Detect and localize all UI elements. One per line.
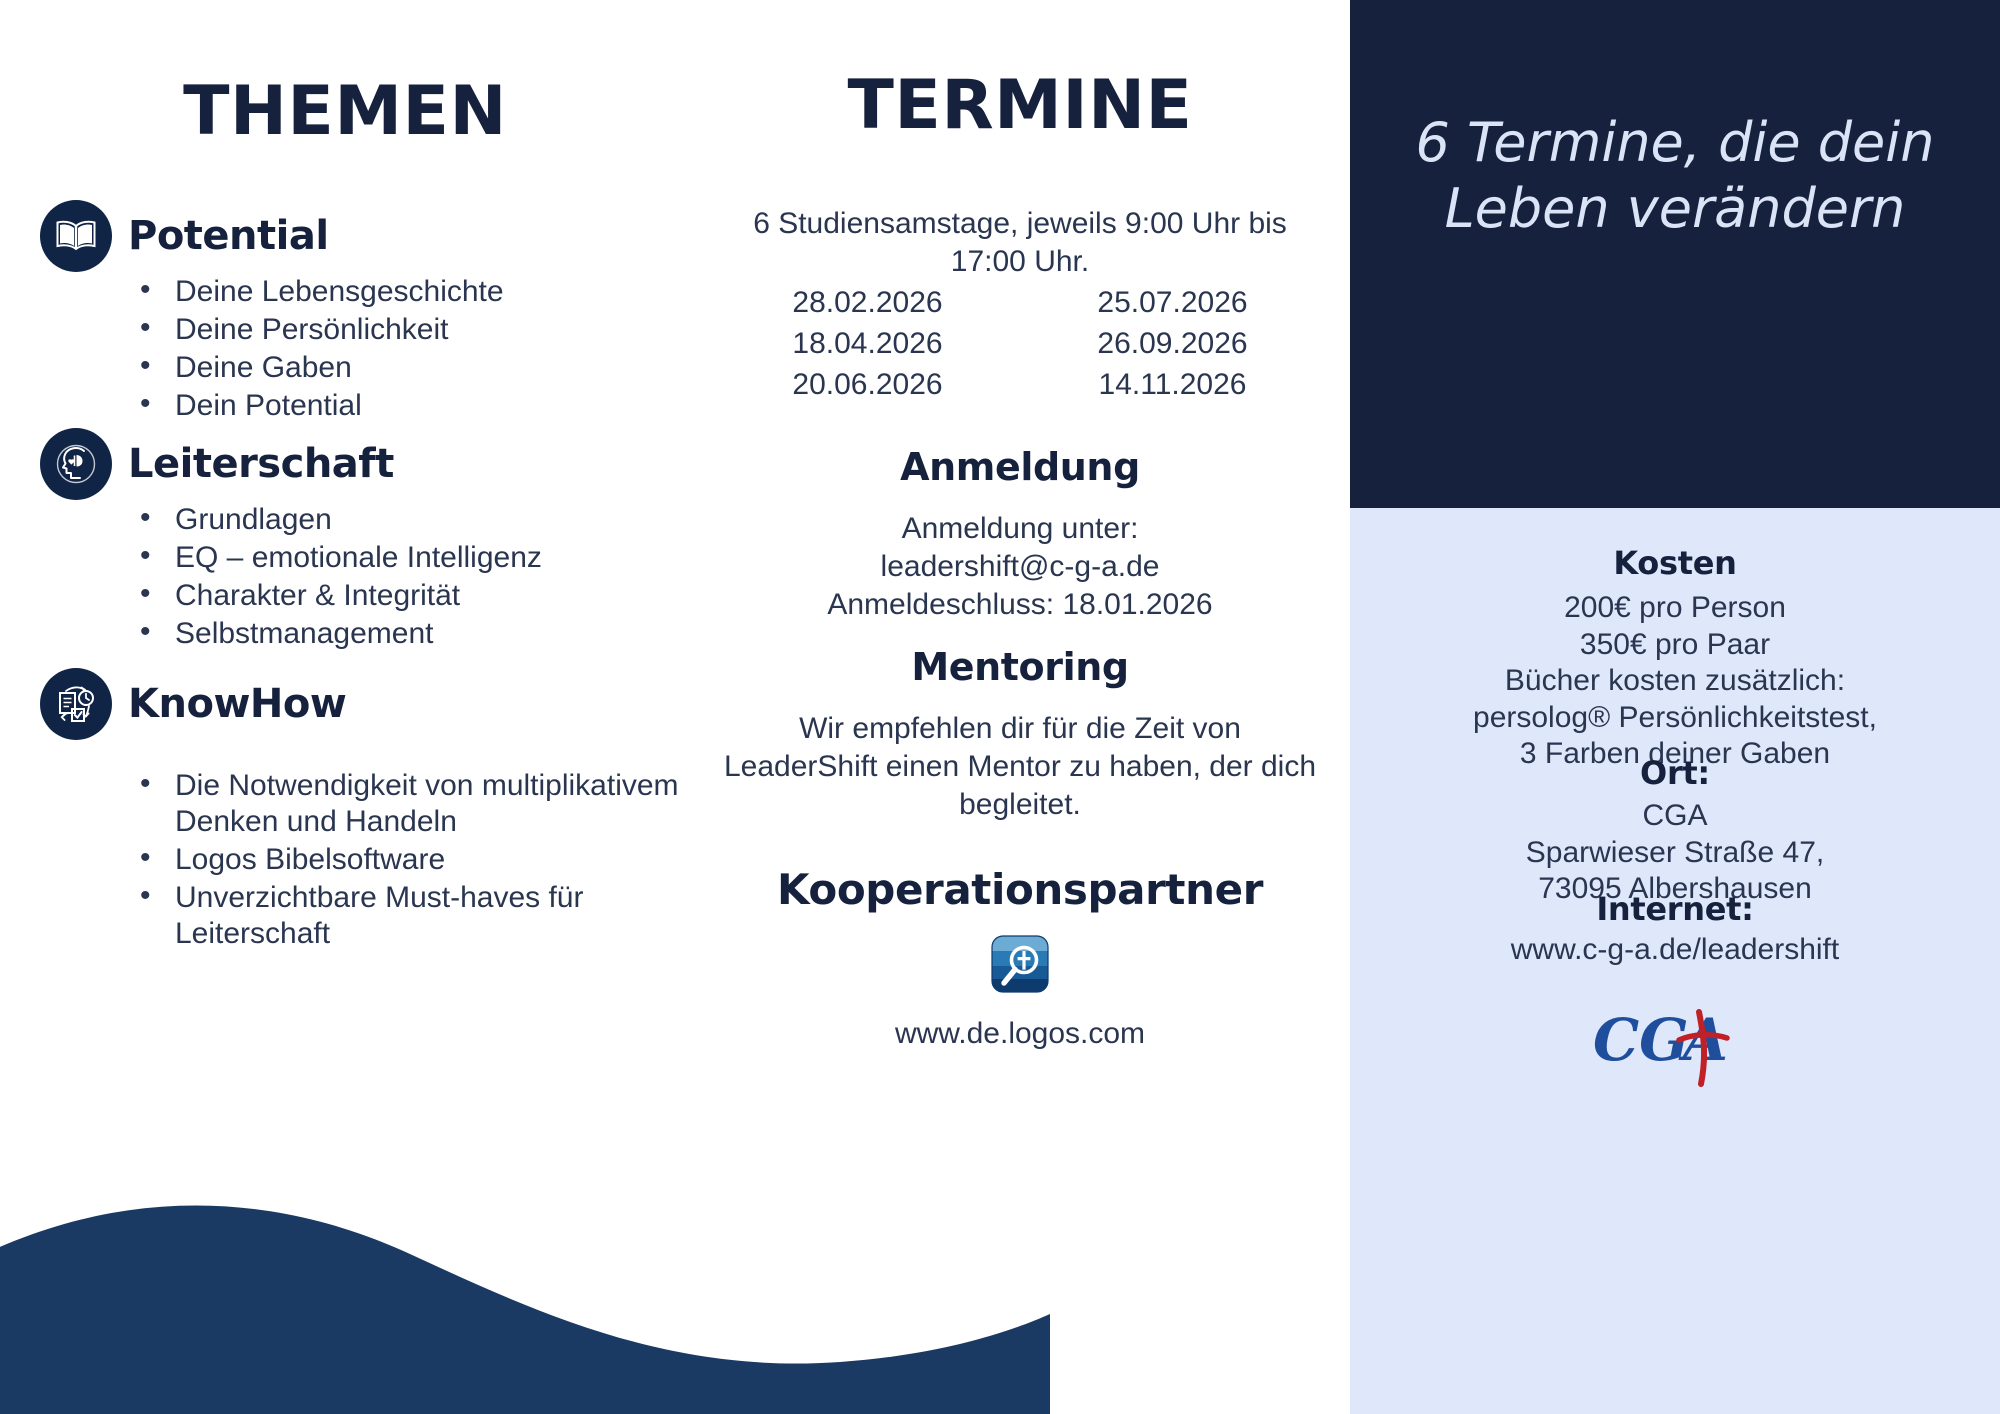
cga-logo: CG A — [1575, 988, 1775, 1098]
page-title-themen: THEMEN — [0, 72, 690, 151]
ort-line-1: CGA — [1370, 798, 1980, 835]
logos-bible-software-icon — [991, 935, 1049, 993]
topic-bullet-list: Deine Lebensgeschichte Deine Persönlichk… — [132, 274, 690, 424]
section-title-kooperationspartner: Kooperationspartner — [690, 865, 1350, 914]
brochure-page: THEMEN Potential Deine Lebensgeschichte … — [0, 0, 2000, 1414]
list-item: Dein Potential — [132, 388, 690, 424]
date-item: 20.06.2026 — [720, 365, 1015, 404]
list-item: Logos Bibelsoftware — [132, 842, 690, 878]
topic-leiterschaft: Leiterschaft Grundlagen EQ – emotionale … — [40, 428, 690, 654]
list-item: Die Notwendigkeit von multiplikativem De… — [132, 768, 690, 840]
topic-header: Potential — [40, 200, 690, 272]
kosten-body: 200€ pro Person 350€ pro Paar Bücher kos… — [1370, 590, 1980, 773]
topic-knowhow: KnowHow Die Notwendigkeit von multiplika… — [40, 668, 690, 954]
kosten-line-1: 200€ pro Person — [1370, 590, 1980, 627]
topic-bullet-list: Die Notwendigkeit von multiplikativem De… — [132, 768, 690, 952]
kosten-line-3: Bücher kosten zusätzlich: — [1370, 663, 1980, 700]
section-title-ort: Ort: — [1370, 754, 1980, 792]
open-book-icon — [40, 200, 112, 272]
partner-url[interactable]: www.de.logos.com — [690, 1015, 1350, 1053]
date-item: 26.09.2026 — [1025, 324, 1320, 363]
section-title-mentoring: Mentoring — [690, 645, 1350, 689]
dot-pattern-decoration-bottom — [1350, 1154, 1560, 1414]
date-item: 14.11.2026 — [1025, 365, 1320, 404]
anmeldung-deadline: Anmeldeschluss: 18.01.2026 — [720, 586, 1320, 624]
topic-title: Potential — [128, 216, 329, 256]
list-item: Unverzichtbare Must-haves für Leiterscha… — [132, 880, 690, 952]
tagline-text: 6 Termine, die dein Leben verändern — [1390, 110, 1960, 242]
kosten-line-2: 350€ pro Paar — [1370, 627, 1980, 664]
kosten-line-4: persolog® Persönlichkeitstest, — [1370, 700, 1980, 737]
topic-potential: Potential Deine Lebensgeschichte Deine P… — [40, 200, 690, 426]
right-panel-column: 6 Termine, die dein Leben verändern — [1350, 0, 2000, 1414]
info-panel: Kosten 200€ pro Person 350€ pro Paar Büc… — [1350, 508, 2000, 1414]
termine-column: TERMINE 6 Studiensamstage, jeweils 9:00 … — [690, 0, 1350, 1414]
svg-text:CG: CG — [1593, 1006, 1689, 1074]
topic-title: Leiterschaft — [128, 444, 394, 484]
section-title-internet: Internet: — [1370, 890, 1980, 928]
anmeldung-email[interactable]: leadershift@c-g-a.de — [720, 548, 1320, 586]
list-item: Grundlagen — [132, 502, 690, 538]
date-item: 18.04.2026 — [720, 324, 1015, 363]
list-item: Selbstmanagement — [132, 616, 690, 652]
topic-header: KnowHow — [40, 668, 690, 740]
anmeldung-line-1: Anmeldung unter: — [720, 510, 1320, 548]
themen-column: THEMEN Potential Deine Lebensgeschichte … — [0, 0, 690, 1414]
list-item: Charakter & Integrität — [132, 578, 690, 614]
topic-title: KnowHow — [128, 684, 346, 724]
topic-header: Leiterschaft — [40, 428, 690, 500]
tagline-panel: 6 Termine, die dein Leben verändern — [1350, 0, 2000, 508]
ort-line-2: Sparwieser Straße 47, — [1370, 835, 1980, 872]
section-title-anmeldung: Anmeldung — [690, 445, 1350, 489]
head-brain-heart-icon — [40, 428, 112, 500]
internet-url[interactable]: www.c-g-a.de/leadershift — [1370, 932, 1980, 969]
anmeldung-body: Anmeldung unter: leadershift@c-g-a.de An… — [720, 510, 1320, 623]
mentoring-body: Wir empfehlen dir für die Zeit von Leade… — [720, 710, 1320, 823]
topic-bullet-list: Grundlagen EQ – emotionale Intelligenz C… — [132, 502, 690, 652]
date-item: 25.07.2026 — [1025, 283, 1320, 322]
list-item: Deine Persönlichkeit — [132, 312, 690, 348]
termine-intro-text: 6 Studiensamstage, jeweils 9:00 Uhr bis … — [720, 205, 1320, 281]
list-item: EQ – emotionale Intelligenz — [132, 540, 690, 576]
dates-grid: 28.02.2026 25.07.2026 18.04.2026 26.09.2… — [720, 283, 1320, 404]
list-item: Deine Gaben — [132, 350, 690, 386]
list-item: Deine Lebensgeschichte — [132, 274, 690, 310]
date-item: 28.02.2026 — [720, 283, 1015, 322]
page-title-termine: TERMINE — [690, 66, 1350, 145]
document-clock-checklist-icon — [40, 668, 112, 740]
section-title-kosten: Kosten — [1370, 544, 1980, 582]
